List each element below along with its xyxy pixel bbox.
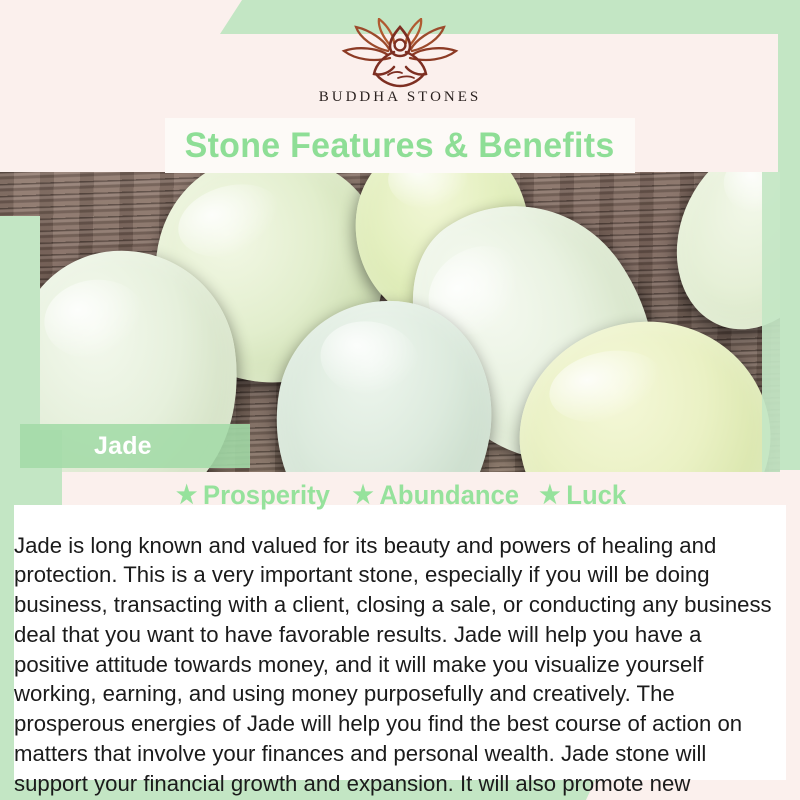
page-title: Stone Features & Benefits xyxy=(185,126,615,166)
stone-name-chip: Jade xyxy=(20,424,250,468)
brand-name: BUDDHA STONES xyxy=(319,89,482,106)
benefit-item: ★ Abundance xyxy=(352,480,519,511)
infographic-card: BUDDHA STONES Stone Features & Benefits … xyxy=(0,0,800,800)
photo-right-accent xyxy=(762,172,780,472)
benefit-item: ★ Luck xyxy=(539,480,626,511)
star-icon: ★ xyxy=(176,483,197,508)
benefits-row: ★ Prosperity ★ Abundance ★ Luck xyxy=(0,478,800,512)
brand-header: BUDDHA STONES xyxy=(0,18,800,118)
star-icon: ★ xyxy=(352,483,373,508)
stone-name-label: Jade xyxy=(20,432,152,461)
benefit-label: Abundance xyxy=(379,480,519,511)
benefit-label: Prosperity xyxy=(203,480,330,511)
lotus-meditation-icon xyxy=(334,18,466,88)
title-banner: Stone Features & Benefits xyxy=(165,118,635,173)
benefit-item: ★ Prosperity xyxy=(176,480,330,511)
benefit-label: Luck xyxy=(566,480,626,511)
star-icon: ★ xyxy=(539,483,560,508)
stone-description: Jade is long known and valued for its be… xyxy=(14,531,776,800)
